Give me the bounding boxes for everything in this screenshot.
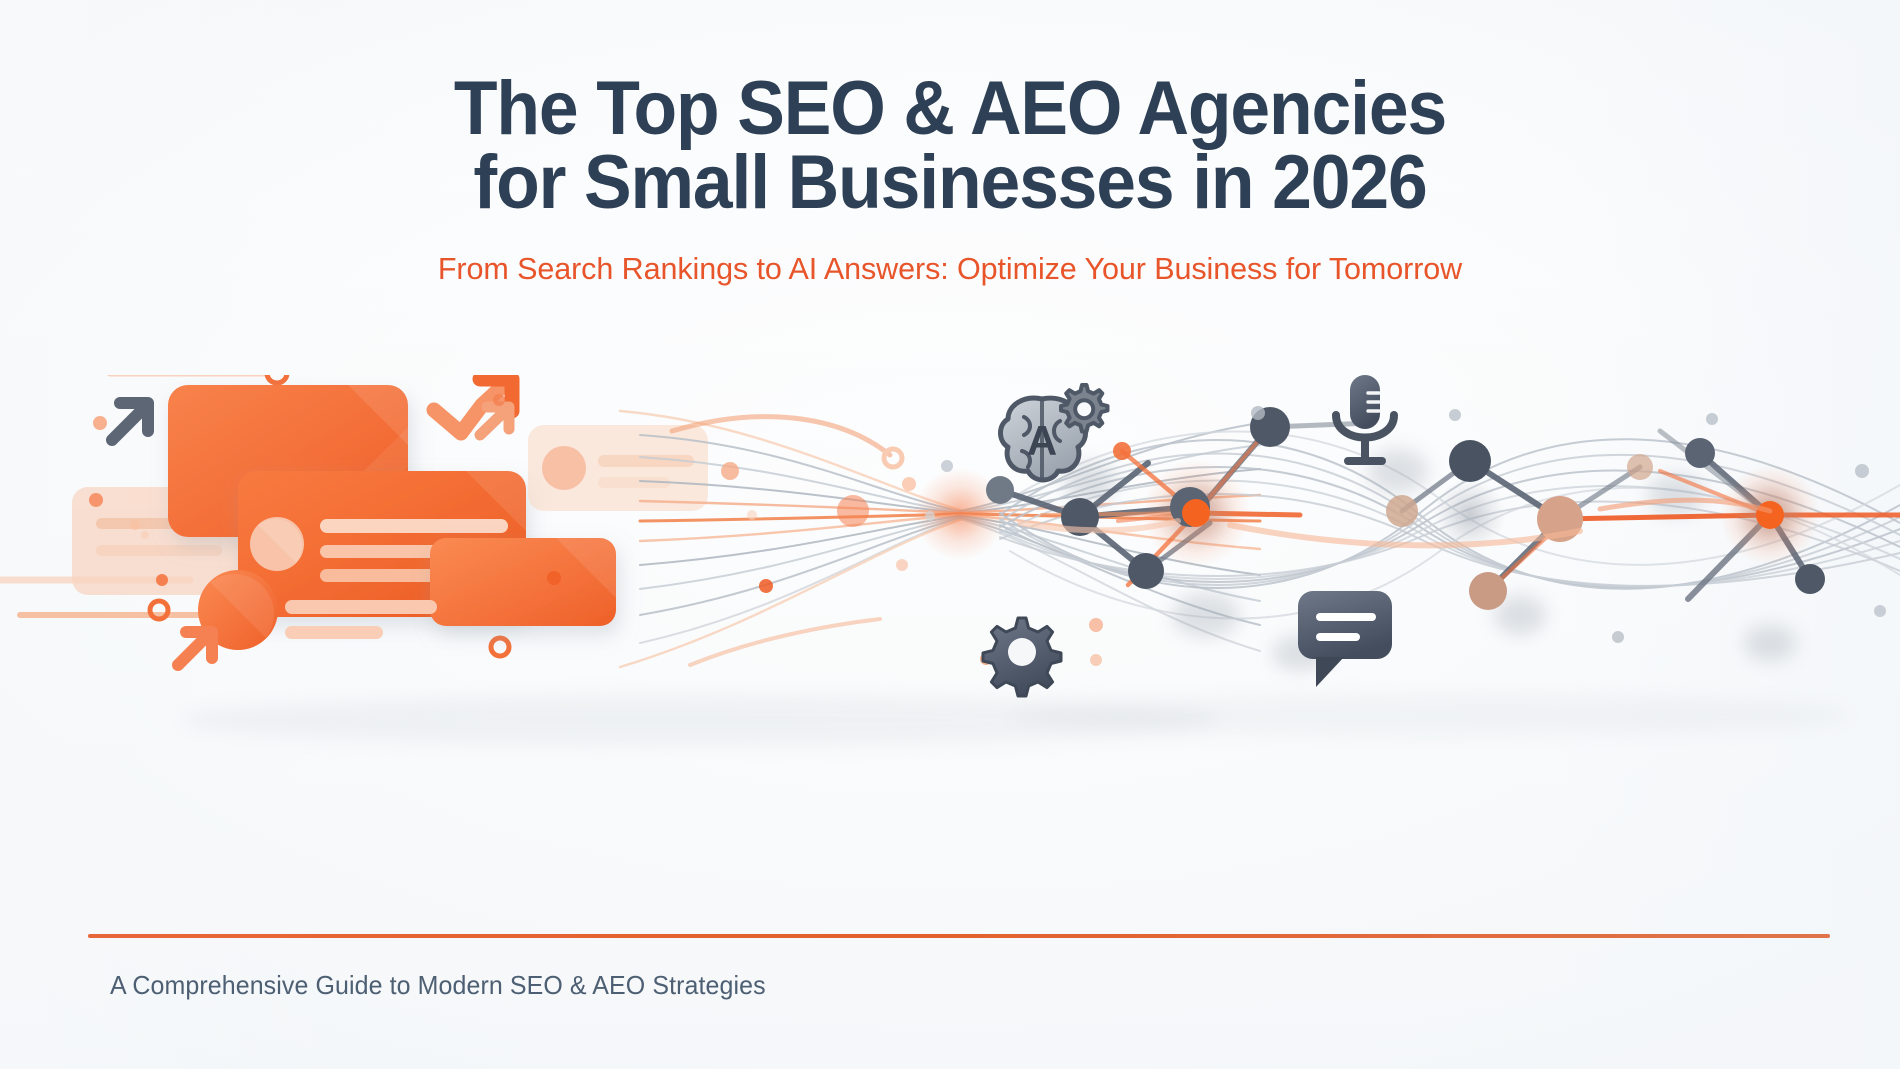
card-small-lower: [430, 538, 616, 626]
hero-illustration: A: [0, 375, 1900, 875]
swoosh-highlight-lower: [690, 619, 880, 665]
page-title: The Top SEO & AEO Agencies for Small Bus…: [57, 72, 1843, 221]
network-node-dark: [1128, 553, 1164, 589]
ai-answer-network: A: [983, 375, 1900, 696]
network-node-tan: [1386, 495, 1418, 527]
network-node-dark: [1449, 440, 1491, 482]
seo-content-cards: [0, 375, 708, 665]
network-hub-core: [1756, 501, 1784, 529]
card-text-line: [285, 600, 437, 614]
header-block: The Top SEO & AEO Agencies for Small Bus…: [0, 0, 1900, 287]
network-nodes: [986, 407, 1825, 610]
page-subtitle: From Search Rankings to AI Answers: Opti…: [14, 251, 1886, 287]
illustration-canvas: A: [0, 375, 1900, 875]
ai-brain-label: A: [1027, 417, 1057, 464]
gear-icon: [983, 618, 1061, 696]
footer-divider: [88, 934, 1830, 938]
scene-ground-shadow-right: [1010, 693, 1850, 737]
network-hub-core: [1113, 442, 1131, 460]
network-node-dark: [1795, 564, 1825, 594]
card-text-line: [285, 626, 383, 639]
bottom-arrow-icon: [178, 632, 212, 665]
gray-arrow-icon: [112, 403, 148, 440]
page-title-line-2: for Small Businesses in 2026: [57, 146, 1843, 220]
hero-banner: The Top SEO & AEO Agencies for Small Bus…: [0, 0, 1900, 1069]
page-title-line-1: The Top SEO & AEO Agencies: [57, 72, 1843, 146]
network-node-tan: [1627, 454, 1653, 480]
network-node-dark: [1685, 438, 1715, 468]
network-node-dark: [986, 476, 1014, 504]
network-node-tan: [1469, 572, 1507, 610]
small-arrow-icon: [480, 407, 509, 435]
network-hub-core: [1182, 499, 1210, 527]
brain-gear-icon: [1061, 385, 1108, 432]
chat-bubble-icon: [1298, 591, 1392, 687]
card-text-line: [320, 519, 508, 533]
footer-note: A Comprehensive Guide to Modern SEO & AE…: [110, 970, 766, 1001]
card-text-line: [320, 569, 438, 582]
